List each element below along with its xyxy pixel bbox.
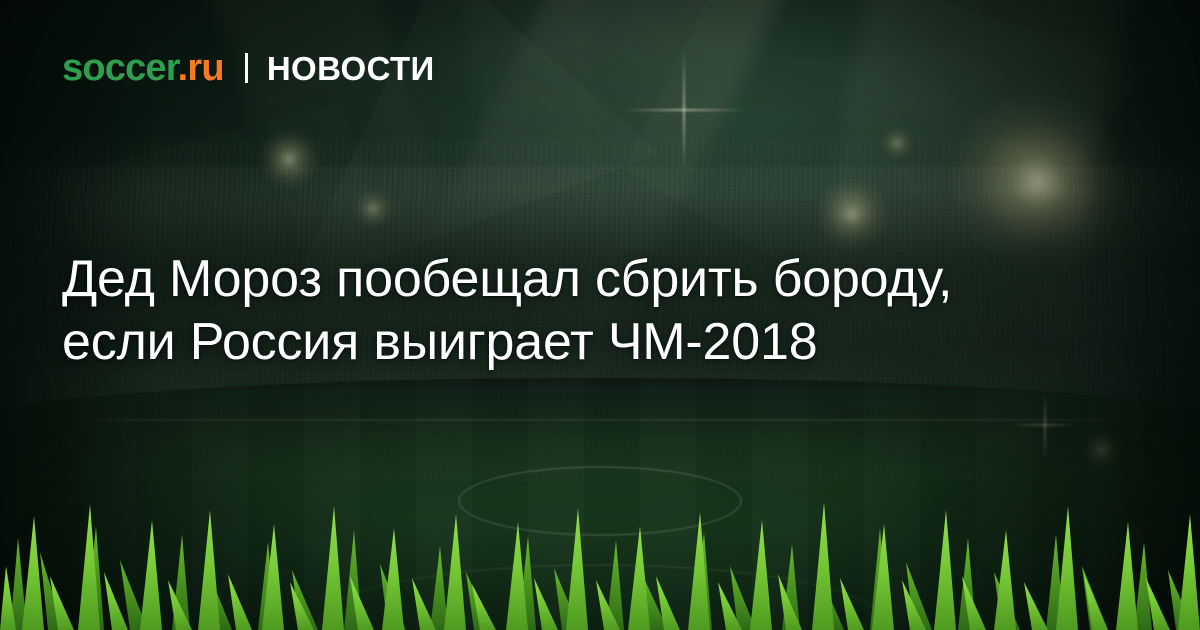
logo-name-text: soccer <box>62 47 178 89</box>
logo-tld-text: .ru <box>178 47 224 89</box>
header-divider <box>245 53 248 83</box>
lens-flare-star-icon <box>624 50 744 170</box>
site-logo[interactable]: soccer.ru <box>62 49 224 87</box>
headline-line-2: если Россия выиграет ЧМ-2018 <box>62 311 1147 374</box>
floodlight-glow <box>880 126 914 160</box>
brand-header: soccer.ru НОВОСТИ <box>62 46 435 90</box>
headline-line-1: Дед Мороз пообещал сбрить бороду, <box>62 248 1147 311</box>
foreground-grass <box>0 480 1200 630</box>
section-label: НОВОСТИ <box>267 52 435 85</box>
floodlight-glow <box>258 128 320 190</box>
news-share-card: soccer.ru НОВОСТИ Дед Мороз пообещал сбр… <box>0 0 1200 630</box>
headline: Дед Мороз пообещал сбрить бороду, если Р… <box>62 248 1147 375</box>
